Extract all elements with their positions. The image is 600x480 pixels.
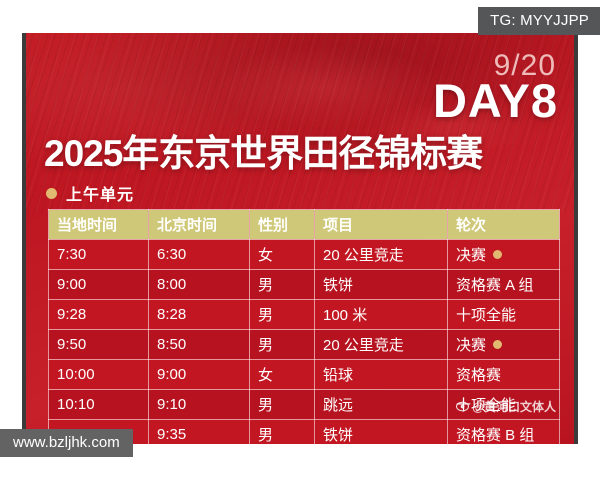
cell-gender: 男: [250, 330, 315, 360]
round-label: 资格赛: [456, 364, 501, 385]
cell-beijing-time: 8:00: [149, 270, 250, 300]
table-row: 9:008:00男铁饼资格赛 A 组: [49, 270, 560, 300]
bullet-dot-icon: [46, 188, 57, 199]
cell-local-time: 10:00: [49, 360, 149, 390]
cell-beijing-time: 6:30: [149, 240, 250, 270]
column-header-event: 项目: [315, 210, 448, 240]
table-row: 7:306:30女20 公里竞走决赛: [49, 240, 560, 270]
table-row: 9:508:50男20 公里竞走决赛: [49, 330, 560, 360]
round-cell-content: 资格赛 B 组: [456, 424, 551, 444]
cell-round: 十项全能: [448, 390, 560, 420]
round-cell-content: 资格赛 A 组: [456, 274, 551, 295]
cell-local-time: 9:28: [49, 300, 149, 330]
cell-round: 决赛: [448, 330, 560, 360]
round-label: 资格赛 A 组: [456, 274, 534, 295]
url-watermark: www.bzljhk.com: [0, 429, 133, 457]
round-label: 决赛: [456, 244, 486, 265]
cell-event: 20 公里竞走: [315, 330, 448, 360]
schedule-table: 当地时间 北京时间 性别 项目 轮次 7:306:30女20 公里竞走决赛9:0…: [48, 209, 560, 444]
round-cell-content: 决赛: [456, 334, 551, 355]
poster-image: 9/20 DAY8 2025年东京世界田径锦标赛 上午单元 当地时间 北京时间 …: [22, 33, 578, 444]
table-header-row: 当地时间 北京时间 性别 项目 轮次: [49, 210, 560, 240]
cell-beijing-time: 8:28: [149, 300, 250, 330]
cell-beijing-time: 9:35: [149, 420, 250, 445]
page-title: 2025年东京世界田径锦标赛: [44, 134, 570, 174]
cell-gender: 男: [250, 390, 315, 420]
round-label: 决赛: [456, 334, 486, 355]
round-cell-content: 十项全能: [456, 394, 551, 415]
table-row: 10:109:10男跳远十项全能: [49, 390, 560, 420]
column-header-local-time: 当地时间: [49, 210, 149, 240]
cell-beijing-time: 9:00: [149, 360, 250, 390]
table-row: 10:009:00女铅球资格赛: [49, 360, 560, 390]
cell-round: 决赛: [448, 240, 560, 270]
final-marker-dot-icon: [493, 340, 502, 349]
poster-day-number: DAY8: [433, 77, 558, 124]
cell-event: 20 公里竞走: [315, 240, 448, 270]
telegram-watermark: TG: MYYJJPP: [478, 7, 600, 35]
session-row: 上午单元: [46, 181, 134, 205]
cell-gender: 男: [250, 420, 315, 445]
cell-gender: 女: [250, 360, 315, 390]
cell-event: 跳远: [315, 390, 448, 420]
round-cell-content: 决赛: [456, 244, 551, 265]
cell-round: 资格赛: [448, 360, 560, 390]
cell-event: 100 米: [315, 300, 448, 330]
session-label: 上午单元: [66, 181, 134, 205]
cell-event: 铁饼: [315, 420, 448, 445]
cell-beijing-time: 9:10: [149, 390, 250, 420]
cell-local-time: 7:30: [49, 240, 149, 270]
cell-gender: 女: [250, 240, 315, 270]
cell-gender: 男: [250, 300, 315, 330]
round-cell-content: 十项全能: [456, 304, 551, 325]
cell-event: 铁饼: [315, 270, 448, 300]
column-header-beijing-time: 北京时间: [149, 210, 250, 240]
cell-round: 资格赛 A 组: [448, 270, 560, 300]
final-marker-dot-icon: [493, 250, 502, 259]
cell-gender: 男: [250, 270, 315, 300]
cell-local-time: 10:10: [49, 390, 149, 420]
cell-round: 十项全能: [448, 300, 560, 330]
round-label: 十项全能: [456, 304, 516, 325]
table-row: 9:288:28男100 米十项全能: [49, 300, 560, 330]
cell-beijing-time: 8:50: [149, 330, 250, 360]
column-header-gender: 性别: [250, 210, 315, 240]
cell-local-time: 9:00: [49, 270, 149, 300]
column-header-round: 轮次: [448, 210, 560, 240]
round-label: 十项全能: [456, 394, 516, 415]
round-label: 资格赛 B 组: [456, 424, 534, 444]
cell-round: 资格赛 B 组: [448, 420, 560, 445]
cell-local-time: 9:50: [49, 330, 149, 360]
round-cell-content: 资格赛: [456, 364, 551, 385]
cell-event: 铅球: [315, 360, 448, 390]
